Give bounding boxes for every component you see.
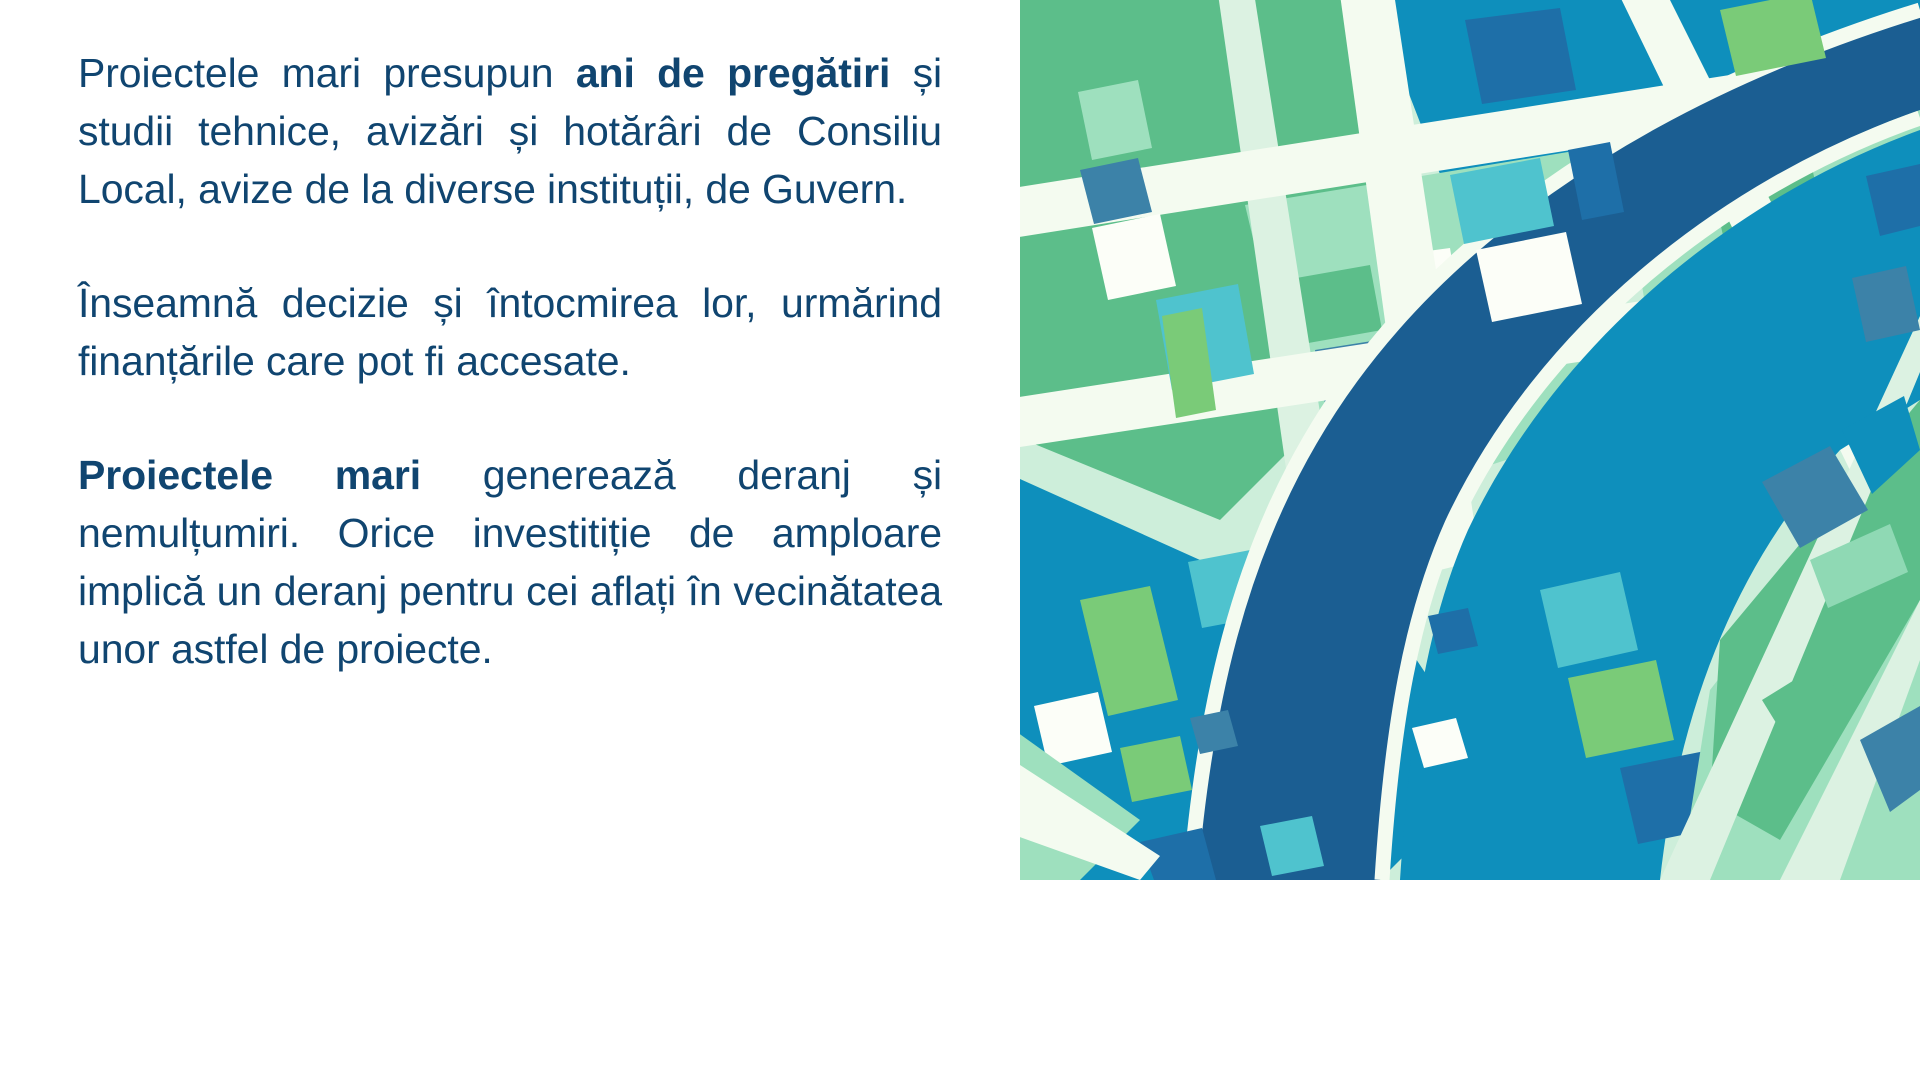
slide-root: Proiectele mari presupun ani de pregătir…: [0, 0, 1920, 1080]
building-blue-1: [1465, 8, 1576, 104]
city-map-illustration: [1020, 0, 1920, 880]
paragraph-3-segment-0-bold: Proiectele mari: [78, 452, 421, 498]
paragraph-2-segment-0: Înseamnă decizie și întocmirea lor, urmă…: [78, 280, 942, 384]
paragraph-1-segment-1-bold: ani de pregătiri: [576, 50, 890, 96]
text-content-pane: Proiectele mari presupun ani de pregătir…: [78, 44, 942, 678]
building-greenlight-4: [1120, 736, 1192, 802]
city-map-svg: [1020, 0, 1920, 880]
paragraph-3: Proiectele mari generează deranj și nemu…: [78, 446, 942, 678]
paragraph-1: Proiectele mari presupun ani de pregătir…: [78, 44, 942, 218]
paragraph-1-segment-0: Proiectele mari presupun: [78, 50, 576, 96]
paragraph-2: Înseamnă decizie și întocmirea lor, urmă…: [78, 274, 942, 390]
